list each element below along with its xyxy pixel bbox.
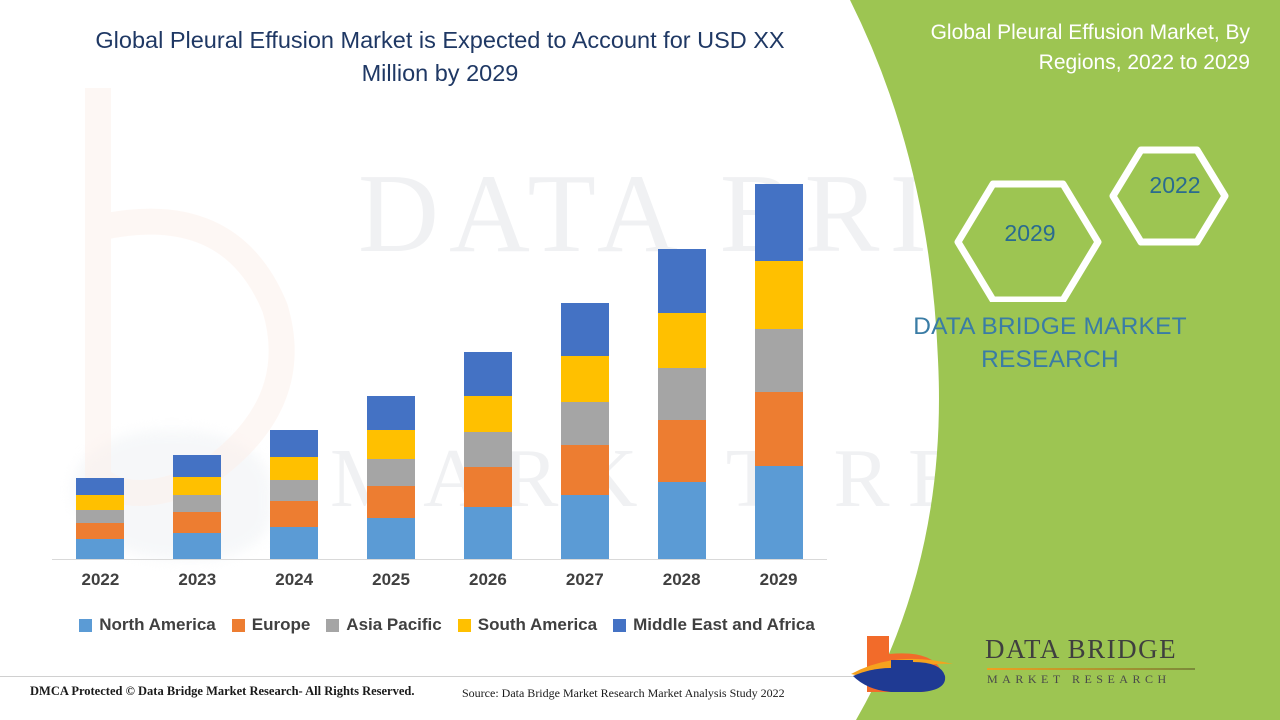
bar-segment [367,396,415,430]
green-panel-content: Global Pleural Effusion Market, By Regio… [820,0,1280,720]
x-axis-label-2029: 2029 [739,570,819,590]
bar-2023 [173,455,221,559]
x-axis-label-2026: 2026 [448,570,528,590]
data-bridge-logo: DATA BRIDGE MARKET RESEARCH [845,630,1245,700]
bar-segment [658,313,706,368]
bar-segment [755,392,803,466]
bar-2022 [76,478,124,559]
x-axis-label-2028: 2028 [642,570,722,590]
bar-segment [270,430,318,457]
hexagon-label-2022: 2022 [1135,172,1215,199]
bar-segment [173,455,221,477]
logo-tagline: MARKET RESEARCH [987,672,1171,687]
plot-area [52,120,827,560]
bar-2026 [464,352,512,559]
bar-segment [76,478,124,495]
legend-item[interactable]: Europe [232,615,311,635]
bar-segment [76,510,124,524]
x-axis-label-2024: 2024 [254,570,334,590]
bar-segment [464,352,512,395]
x-axis-labels: 20222023202420252026202720282029 [52,570,827,596]
bar-segment [76,539,124,559]
bar-segment [173,512,221,533]
bar-segment [464,507,512,559]
legend-item[interactable]: North America [79,615,216,635]
legend-label: South America [478,615,597,635]
bar-2024 [270,430,318,559]
legend-item[interactable]: Asia Pacific [326,615,441,635]
bar-segment [658,420,706,481]
x-axis-label-2022: 2022 [60,570,140,590]
legend-swatch-icon [79,619,92,632]
bar-segment [464,432,512,466]
chart-title: Global Pleural Effusion Market is Expect… [60,24,820,90]
bar-segment [367,486,415,518]
bar-2027 [561,303,609,559]
bar-segment [270,501,318,527]
bar-segment [561,402,609,445]
bar-segment [561,445,609,495]
legend-swatch-icon [232,619,245,632]
bar-segment [76,523,124,539]
bar-segment [173,477,221,495]
bar-segment [658,482,706,559]
legend-label: North America [99,615,216,635]
bar-segment [270,527,318,559]
bar-segment [76,495,124,510]
legend-item[interactable]: Middle East and Africa [613,615,815,635]
legend-label: Europe [252,615,311,635]
logo-name: DATA BRIDGE [985,634,1177,665]
chart-legend: North AmericaEuropeAsia PacificSouth Ame… [52,615,842,635]
x-axis-line [52,559,827,560]
bar-segment [658,368,706,420]
logo-mark-icon [845,630,975,696]
bar-segment [173,533,221,559]
bar-2025 [367,396,415,559]
footer-divider [0,676,860,677]
bar-segment [561,303,609,356]
bar-segment [367,518,415,559]
bar-segment [270,457,318,480]
bar-segment [173,495,221,512]
bar-segment [561,356,609,401]
bar-segment [561,495,609,559]
bar-segment [464,396,512,433]
legend-label: Middle East and Africa [633,615,815,635]
x-axis-label-2025: 2025 [351,570,431,590]
legend-swatch-icon [613,619,626,632]
chart-infographic: DATA BRIDGE MARKET RESEARCH Global Pleur… [0,0,1280,720]
legend-item[interactable]: South America [458,615,597,635]
legend-swatch-icon [326,619,339,632]
bar-2029 [755,184,803,559]
footer-source: Source: Data Bridge Market Research Mark… [462,686,785,701]
footer-copyright: DMCA Protected © Data Bridge Market Rese… [30,684,415,699]
panel-brand-name: DATA BRIDGE MARKET RESEARCH [880,310,1220,376]
bar-segment [367,430,415,460]
bar-segment [464,467,512,508]
hexagon-label-2029: 2029 [985,220,1075,247]
hexagon-group: 2022 2029 [945,142,1265,302]
bar-segment [658,249,706,313]
bar-2028 [658,249,706,559]
legend-swatch-icon [458,619,471,632]
legend-label: Asia Pacific [346,615,441,635]
x-axis-label-2027: 2027 [545,570,625,590]
panel-title: Global Pleural Effusion Market, By Regio… [850,18,1250,78]
logo-divider [987,668,1195,670]
bar-segment [270,480,318,501]
bar-segment [755,184,803,261]
x-axis-label-2023: 2023 [157,570,237,590]
bar-segment [367,459,415,486]
bar-segment [755,329,803,392]
bar-segment [755,466,803,559]
bar-segment [755,261,803,329]
